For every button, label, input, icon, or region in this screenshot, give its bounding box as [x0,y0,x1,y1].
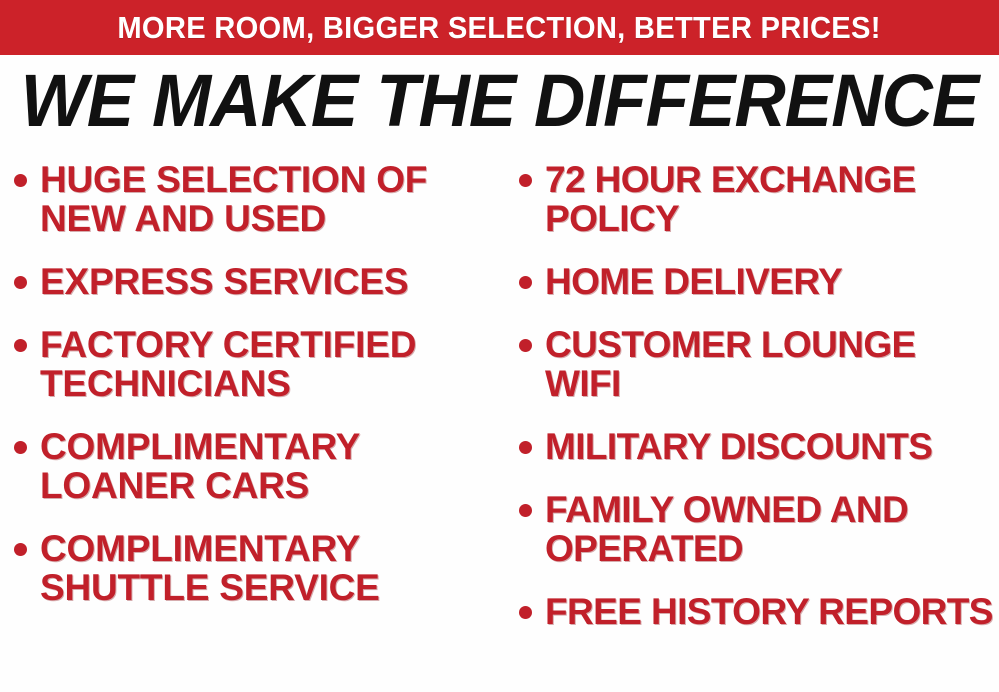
list-item: EXPRESS SERVICES [14,262,504,301]
list-item: FAMILY OWNED AND OPERATED [519,490,999,568]
list-item: COMPLIMENTARY SHUTTLE SERVICE [14,529,504,607]
list-item-label: COMPLIMENTARY SHUTTLE SERVICE [40,529,504,607]
bullet-dot-icon [14,339,27,352]
bullet-dot-icon [519,339,532,352]
page-title: WE MAKE THE DIFFERENCE [20,64,979,138]
promo-banner-text: MORE ROOM, BIGGER SELECTION, BETTER PRIC… [118,12,881,43]
bullet-dot-icon [14,543,27,556]
advertisement-banner: MORE ROOM, BIGGER SELECTION, BETTER PRIC… [0,0,999,692]
list-item-label: MILITARY DISCOUNTS [545,427,999,466]
bullet-dot-icon [519,504,532,517]
list-item: FREE HISTORY REPORTS [519,592,999,631]
list-item: CUSTOMER LOUNGE WIFI [519,325,999,403]
list-item-label: HUGE SELECTION OF NEW AND USED [40,160,504,238]
bullet-dot-icon [519,174,532,187]
list-item: FACTORY CERTIFIED TECHNICIANS [14,325,504,403]
features-column-left: HUGE SELECTION OF NEW AND USED EXPRESS S… [14,160,504,631]
list-item-label: COMPLIMENTARY LOANER CARS [40,427,504,505]
list-item-label: CUSTOMER LOUNGE WIFI [545,325,999,403]
bullet-dot-icon [14,441,27,454]
list-item: HOME DELIVERY [519,262,999,301]
bullet-dot-icon [519,606,532,619]
bullet-dot-icon [14,174,27,187]
features-columns: HUGE SELECTION OF NEW AND USED EXPRESS S… [0,160,999,692]
list-item: 72 HOUR EXCHANGE POLICY [519,160,999,238]
list-item-label: 72 HOUR EXCHANGE POLICY [545,160,999,238]
top-promo-banner: MORE ROOM, BIGGER SELECTION, BETTER PRIC… [0,0,999,55]
bullet-dot-icon [519,276,532,289]
list-item-label: FACTORY CERTIFIED TECHNICIANS [40,325,504,403]
list-item-label: FAMILY OWNED AND OPERATED [545,490,999,568]
features-column-right: 72 HOUR EXCHANGE POLICY HOME DELIVERY CU… [519,160,999,655]
bullet-dot-icon [14,276,27,289]
list-item: COMPLIMENTARY LOANER CARS [14,427,504,505]
list-item-label: EXPRESS SERVICES [40,262,504,301]
list-item: HUGE SELECTION OF NEW AND USED [14,160,504,238]
list-item-label: FREE HISTORY REPORTS [545,592,999,631]
list-item-label: HOME DELIVERY [545,262,999,301]
bullet-dot-icon [519,441,532,454]
list-item: MILITARY DISCOUNTS [519,427,999,466]
